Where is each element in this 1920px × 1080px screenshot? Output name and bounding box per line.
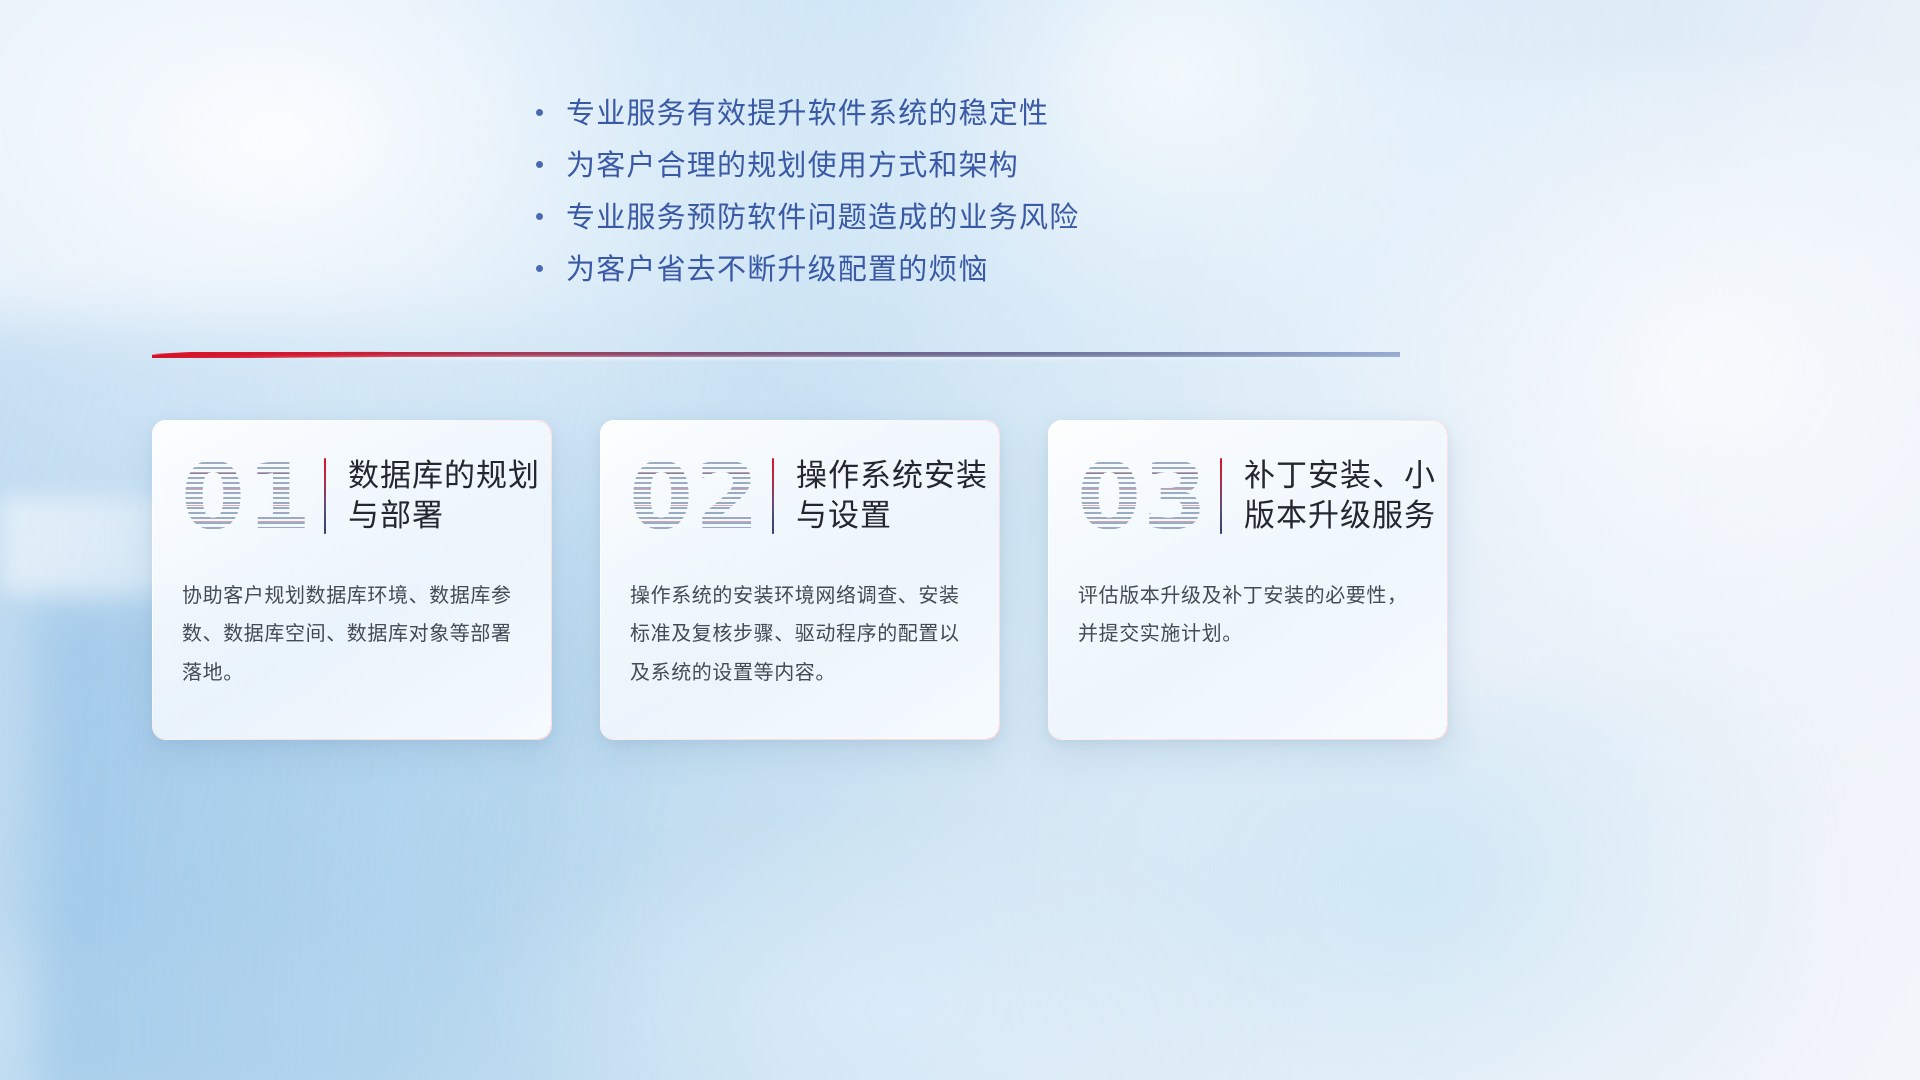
card-number-glyph-tint: 03 [1070,438,1216,554]
card-number-01: 01 01 [174,438,320,554]
service-card-03[interactable]: 03 03 补丁安装、小 版本升级服务 评估版本升级及补丁安装的必要性，并提交实… [1048,420,1448,740]
card-body-01: 协助客户规划数据库环境、数据库参数、数据库空间、数据库对象等部署落地。 [152,572,552,691]
card-header-03: 03 03 补丁安装、小 版本升级服务 [1048,420,1448,572]
card-number-glyph-tint: 02 [622,438,768,554]
card-title-rule-02 [772,458,774,534]
card-number-glyph-tint: 01 [174,438,320,554]
card-title-rule-03 [1220,458,1222,534]
benefits-bullet-list: 专业服务有效提升软件系统的稳定性 为客户合理的规划使用方式和架构 专业服务预防软… [536,90,1079,298]
bullet-label-3: 专业服务预防软件问题造成的业务风险 [566,194,1079,236]
card-title-01: 数据库的规划 与部署 [348,456,540,537]
bullet-item-1: 专业服务有效提升软件系统的稳定性 [536,90,1079,142]
service-card-02[interactable]: 02 02 操作系统安装 与设置 操作系统的安装环境网络调查、安装标准及复核步骤… [600,420,1000,740]
service-card-row: 01 01 数据库的规划 与部署 协助客户规划数据库环境、数据库参数、数据库空间… [0,420,1920,740]
card-title-03: 补丁安装、小 版本升级服务 [1244,456,1436,537]
card-number-03: 03 03 [1070,438,1216,554]
bullet-label-4: 为客户省去不断升级配置的烦恼 [566,246,989,288]
bullet-dot-icon [536,99,566,125]
card-number-02: 02 02 [622,438,768,554]
bullet-item-3: 专业服务预防软件问题造成的业务风险 [536,194,1079,246]
bullet-dot-icon [536,151,566,177]
bullet-dot-icon [536,203,566,229]
card-title-rule-01 [324,458,326,534]
service-card-01[interactable]: 01 01 数据库的规划 与部署 协助客户规划数据库环境、数据库参数、数据库空间… [152,420,552,740]
card-body-02: 操作系统的安装环境网络调查、安装标准及复核步骤、驱动程序的配置以及系统的设置等内… [600,572,1000,691]
divider-highlight [152,356,1400,360]
section-divider [152,345,1400,367]
bullet-dot-icon [536,255,566,281]
bullet-item-2: 为客户合理的规划使用方式和架构 [536,142,1079,194]
card-header-02: 02 02 操作系统安装 与设置 [600,420,1000,572]
card-header-01: 01 01 数据库的规划 与部署 [152,420,552,572]
bullet-item-4: 为客户省去不断升级配置的烦恼 [536,246,1079,298]
card-title-02: 操作系统安装 与设置 [796,456,988,537]
bullet-label-2: 为客户合理的规划使用方式和架构 [566,142,1019,184]
bullet-label-1: 专业服务有效提升软件系统的稳定性 [566,90,1049,132]
card-body-03: 评估版本升级及补丁安装的必要性，并提交实施计划。 [1048,572,1448,653]
